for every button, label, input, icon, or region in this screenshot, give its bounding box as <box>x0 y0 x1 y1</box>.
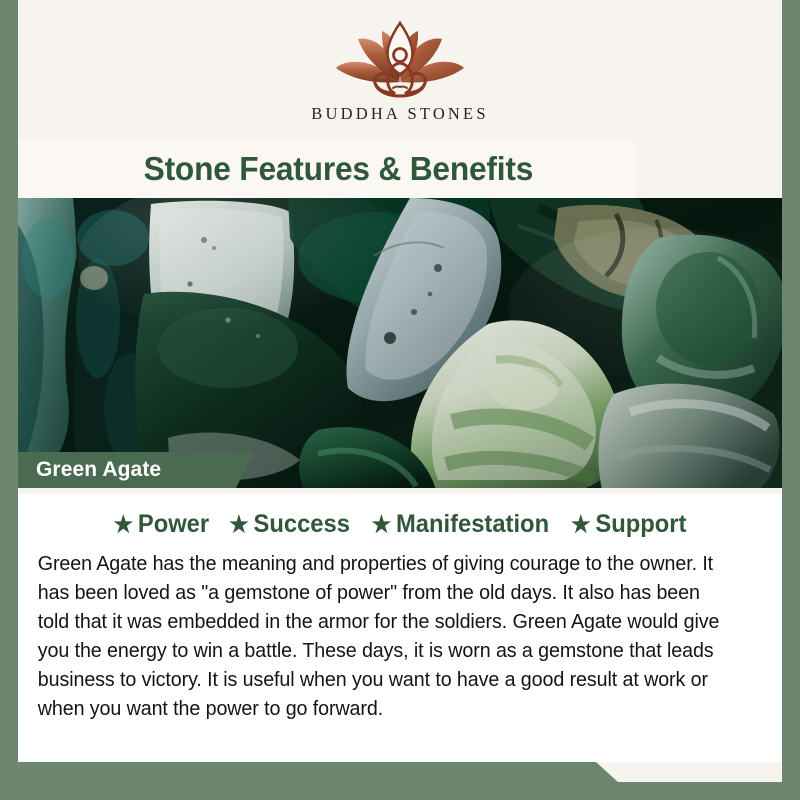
benefit-item-manifestation: ★ Manifestation <box>371 510 548 539</box>
benefits-row: ★ Power ★ Success ★ Manifestation ★ Supp… <box>32 510 768 539</box>
star-icon: ★ <box>371 513 391 536</box>
page-title: Stone Features & Benefits <box>121 150 534 188</box>
star-icon: ★ <box>571 513 591 536</box>
description-text: Green Agate has the meaning and properti… <box>32 549 739 723</box>
section-title-banner: Stone Features & Benefits <box>18 140 636 198</box>
benefit-label: Success <box>253 510 349 539</box>
page-surface: BUDDHA STONES Stone Features & Benefits <box>18 0 782 782</box>
description-card: ★ Power ★ Success ★ Manifestation ★ Supp… <box>18 494 782 762</box>
benefit-item-support: ★ Support <box>571 510 686 539</box>
poster-root: BUDDHA STONES Stone Features & Benefits <box>0 0 800 800</box>
benefit-item-success: ★ Success <box>229 510 350 539</box>
benefit-item-power: ★ Power <box>114 510 210 539</box>
stone-photo <box>18 198 782 488</box>
lotus-meditation-icon <box>325 18 475 100</box>
brand-header: BUDDHA STONES <box>18 0 782 148</box>
star-icon: ★ <box>114 513 134 536</box>
stone-name-label: Green Agate <box>18 458 161 482</box>
benefit-label: Support <box>595 510 686 539</box>
benefit-label: Power <box>138 510 209 539</box>
corner-accent-bottom-left <box>18 762 618 782</box>
star-icon: ★ <box>229 513 249 536</box>
stone-name-badge: Green Agate <box>18 452 254 488</box>
brand-name: BUDDHA STONES <box>311 104 488 124</box>
benefit-label: Manifestation <box>396 510 549 539</box>
